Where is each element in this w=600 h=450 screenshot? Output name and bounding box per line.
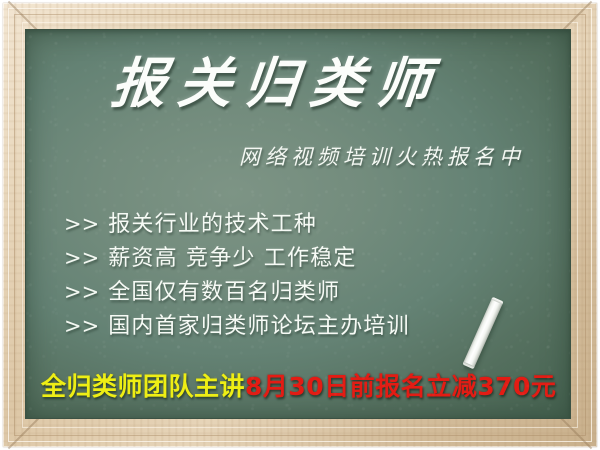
list-item-label: 全国仅有数百名归类师 xyxy=(108,274,340,306)
list-item-label: 国内首家归类师论坛主办培训 xyxy=(108,308,410,340)
double-chevron-icon: >> xyxy=(64,280,99,304)
frame-miter-bottom-right xyxy=(560,417,593,450)
feature-list: >> 报关行业的技术工种 >> 薪资高 竞争少 工作稳定 >> 全国仅有数百名归… xyxy=(64,206,534,342)
list-item: >> 国内首家归类师论坛主办培训 xyxy=(64,308,534,342)
list-item-label: 薪资高 竞争少 工作稳定 xyxy=(108,240,356,272)
promo-banner: 全归类师团队主讲8月30日前报名立减370元 xyxy=(41,371,561,403)
list-item-label: 报关行业的技术工种 xyxy=(108,206,317,238)
frame-miter-bottom-left xyxy=(8,417,41,450)
poster-root: 报关归类师 网络视频培训火热报名中 >> 报关行业的技术工种 >> 薪资高 竞争… xyxy=(0,0,600,450)
list-item: >> 薪资高 竞争少 工作稳定 xyxy=(64,240,534,274)
double-chevron-icon: >> xyxy=(64,212,99,236)
double-chevron-icon: >> xyxy=(64,314,99,338)
list-item: >> 全国仅有数百名归类师 xyxy=(64,274,534,308)
chalkboard-surface: 报关归类师 网络视频培训火热报名中 >> 报关行业的技术工种 >> 薪资高 竞争… xyxy=(25,29,571,419)
double-chevron-icon: >> xyxy=(64,246,99,270)
list-item: >> 报关行业的技术工种 xyxy=(64,206,534,240)
page-title: 报关归类师 xyxy=(109,52,446,114)
promo-highlight-text: 全归类师团队主讲 xyxy=(41,372,245,401)
promo-offer-text: 8月30日前报名立减370元 xyxy=(245,372,556,401)
subtitle-text: 网络视频培训火热报名中 xyxy=(239,142,525,172)
